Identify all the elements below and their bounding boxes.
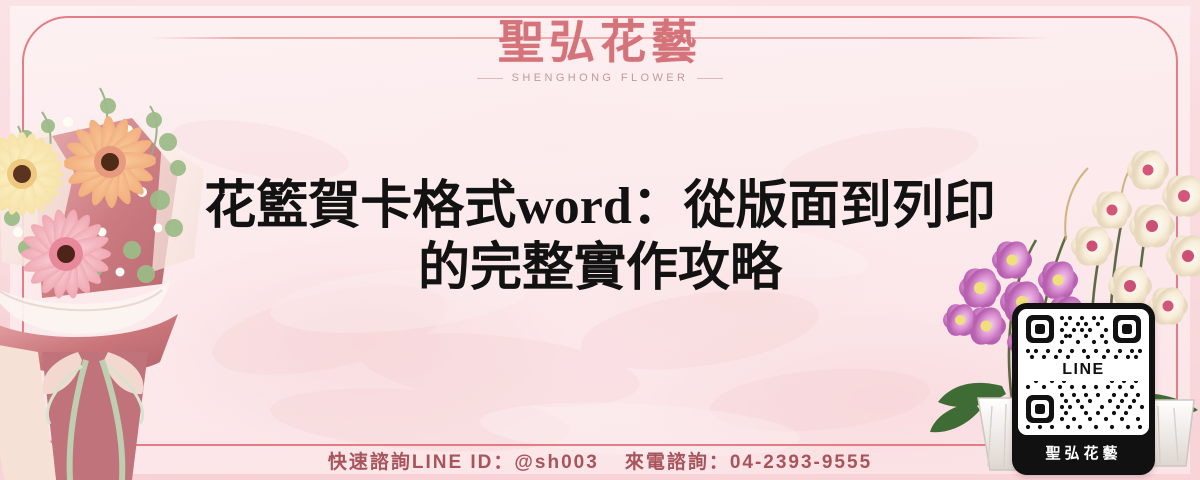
brand-logo-subtitle-row: SHENGHONG FLOWER [0, 72, 1200, 84]
logo-dash-right-icon [697, 78, 723, 79]
brand-logo[interactable]: 聖弘花藝 SHENGHONG FLOWER [0, 16, 1200, 84]
line-qr-badge[interactable]: LINE 聖弘花藝 [1012, 303, 1155, 475]
page-title-line-2: 的完整實作攻略 [190, 238, 1010, 300]
promo-banner: 聖弘花藝 SHENGHONG FLOWER 花籃賀卡格式word：從版面到列印 … [0, 0, 1200, 480]
logo-dash-left-icon [477, 78, 503, 79]
qr-code-area[interactable]: LINE [1018, 309, 1149, 435]
contact-phone[interactable]: 來電諮詢：04-2393-9555 [625, 447, 872, 474]
page-title-line-1: 花籃賀卡格式word：從版面到列印 [190, 176, 1010, 238]
brand-logo-chinese: 聖弘花藝 [0, 16, 1200, 70]
qr-center-line-label: LINE [1018, 359, 1149, 381]
brand-logo-english: SHENGHONG FLOWER [512, 72, 689, 84]
page-title: 花籃賀卡格式word：從版面到列印 的完整實作攻略 [190, 176, 1010, 300]
qr-brand-label: 聖弘花藝 [1018, 435, 1149, 473]
contact-line-id[interactable]: 快速諮詢LINE ID：@sh003 [328, 447, 599, 474]
